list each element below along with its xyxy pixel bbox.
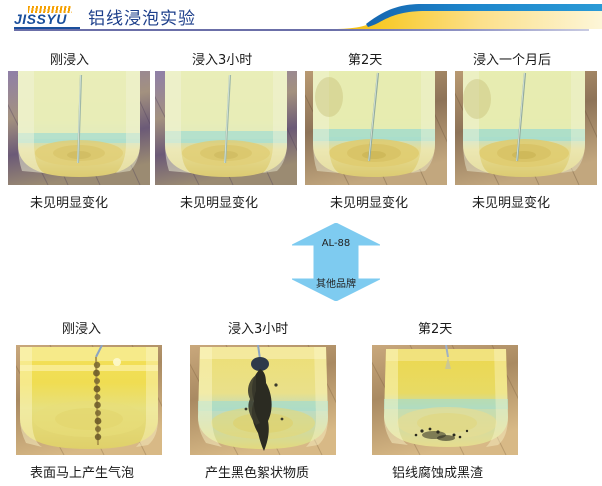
bottom-photo-3 <box>372 345 518 455</box>
top-photo-3 <box>305 71 447 185</box>
comparison-arrow: AL-88 其他品牌 <box>292 223 380 301</box>
bottom-caption-1: 表面马上产生气泡 <box>30 462 134 481</box>
top-photo-4 <box>455 71 597 185</box>
bottom-label-1: 刚浸入 <box>62 318 101 337</box>
page-header: JISSYU 铝线浸泡实验 <box>0 0 602 40</box>
bottom-photo-1 <box>16 345 162 455</box>
page-title: 铝线浸泡实验 <box>88 4 196 29</box>
bottom-label-3: 第2天 <box>418 318 452 337</box>
top-caption-1: 未见明显变化 <box>30 192 108 211</box>
top-caption-2: 未见明显变化 <box>180 192 258 211</box>
bottom-photo-2 <box>190 345 336 455</box>
arrow-label-bottom: 其他品牌 <box>292 275 380 290</box>
header-divider <box>14 29 589 31</box>
top-label-2: 浸入3小时 <box>192 49 252 68</box>
logo-text: JISSYU <box>14 11 67 27</box>
arrow-label-top: AL-88 <box>292 238 380 249</box>
jissyu-logo: JISSYU <box>14 6 80 28</box>
top-label-1: 刚浸入 <box>50 49 89 68</box>
top-label-3: 第2天 <box>348 49 382 68</box>
bottom-caption-3: 铝线腐蚀成黑渣 <box>392 462 483 481</box>
top-caption-4: 未见明显变化 <box>472 192 550 211</box>
top-label-4: 浸入一个月后 <box>473 49 551 68</box>
bottom-caption-2: 产生黑色絮状物质 <box>205 462 309 481</box>
top-photo-1 <box>8 71 150 185</box>
top-caption-3: 未见明显变化 <box>330 192 408 211</box>
bottom-label-2: 浸入3小时 <box>228 318 288 337</box>
top-photo-2 <box>155 71 297 185</box>
